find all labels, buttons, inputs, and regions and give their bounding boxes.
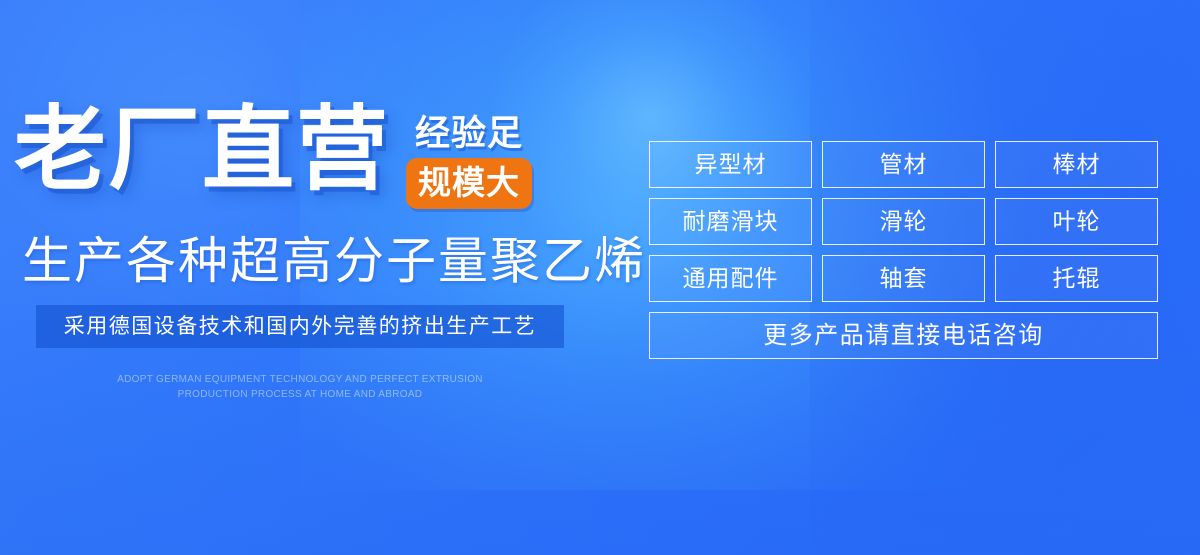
product-cell-wear-slider[interactable]: 耐磨滑块	[649, 198, 812, 245]
headline-row: 老厂直营 经验足 规模大	[14, 104, 532, 209]
product-label: 叶轮	[1053, 210, 1101, 233]
product-cell-impeller[interactable]: 叶轮	[995, 198, 1158, 245]
badge-scale: 规模大	[406, 158, 532, 209]
product-label: 管材	[880, 153, 928, 176]
badge-stack: 经验足 规模大	[406, 116, 532, 209]
tagline-english-line-1: ADOPT GERMAN EQUIPMENT TECHNOLOGY AND PE…	[36, 372, 564, 387]
product-cell-general-parts[interactable]: 通用配件	[649, 255, 812, 302]
more-products-cta[interactable]: 更多产品请直接电话咨询	[649, 312, 1158, 359]
product-label: 耐磨滑块	[683, 210, 779, 233]
product-label: 轴套	[880, 267, 928, 290]
product-row-1: 异型材 管材 棒材	[649, 141, 1158, 188]
tagline-english: ADOPT GERMAN EQUIPMENT TECHNOLOGY AND PE…	[36, 372, 564, 402]
tagline-english-line-2: PRODUCTION PROCESS AT HOME AND ABROAD	[36, 387, 564, 402]
product-row-3: 通用配件 轴套 托辊	[649, 255, 1158, 302]
product-category-grid: 异型材 管材 棒材 耐磨滑块 滑轮 叶轮 通用配件	[649, 141, 1158, 359]
product-cell-rod[interactable]: 棒材	[995, 141, 1158, 188]
product-row-2: 耐磨滑块 滑轮 叶轮	[649, 198, 1158, 245]
headline-main: 老厂直营	[14, 104, 390, 196]
product-label: 托辊	[1053, 267, 1101, 290]
headline-block: 老厂直营 经验足 规模大 生产各种超高分子量聚乙烯 采用德国设备技术和国内外完善…	[0, 0, 610, 555]
tagline-bar: 采用德国设备技术和国内外完善的挤出生产工艺	[36, 305, 564, 348]
product-label: 通用配件	[683, 267, 779, 290]
more-products-label: 更多产品请直接电话咨询	[763, 324, 1044, 348]
product-cell-pulley[interactable]: 滑轮	[822, 198, 985, 245]
product-label: 异型材	[695, 153, 767, 176]
product-row-4: 更多产品请直接电话咨询	[649, 312, 1158, 359]
product-label: 棒材	[1053, 153, 1101, 176]
tagline-text: 采用德国设备技术和国内外完善的挤出生产工艺	[64, 316, 537, 337]
promo-banner: 老厂直营 经验足 规模大 生产各种超高分子量聚乙烯 采用德国设备技术和国内外完善…	[0, 0, 1200, 555]
product-cell-bushing[interactable]: 轴套	[822, 255, 985, 302]
badge-experience: 经验足	[406, 116, 532, 153]
product-cell-profile[interactable]: 异型材	[649, 141, 812, 188]
product-label: 滑轮	[880, 210, 928, 233]
headline-subtitle: 生产各种超高分子量聚乙烯	[22, 236, 646, 286]
product-cell-pipe[interactable]: 管材	[822, 141, 985, 188]
product-cell-idler-roller[interactable]: 托辊	[995, 255, 1158, 302]
